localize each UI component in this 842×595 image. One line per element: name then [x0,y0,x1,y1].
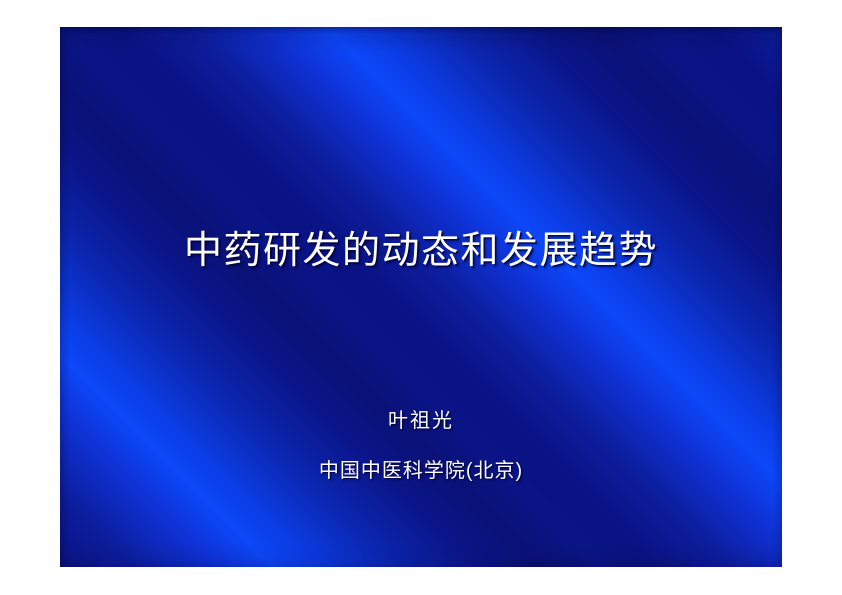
slide-page: 中药研发的动态和发展趋势 叶祖光 中国中医科学院(北京) [0,0,842,595]
slide-author-affiliation: 中国中医科学院(北京) [60,454,782,483]
slide-title: 中药研发的动态和发展趋势 [60,228,782,276]
slide-author-name: 叶祖光 [60,404,782,433]
presentation-slide: 中药研发的动态和发展趋势 叶祖光 中国中医科学院(北京) [60,27,782,567]
slide-content: 中药研发的动态和发展趋势 叶祖光 中国中医科学院(北京) [60,27,782,567]
